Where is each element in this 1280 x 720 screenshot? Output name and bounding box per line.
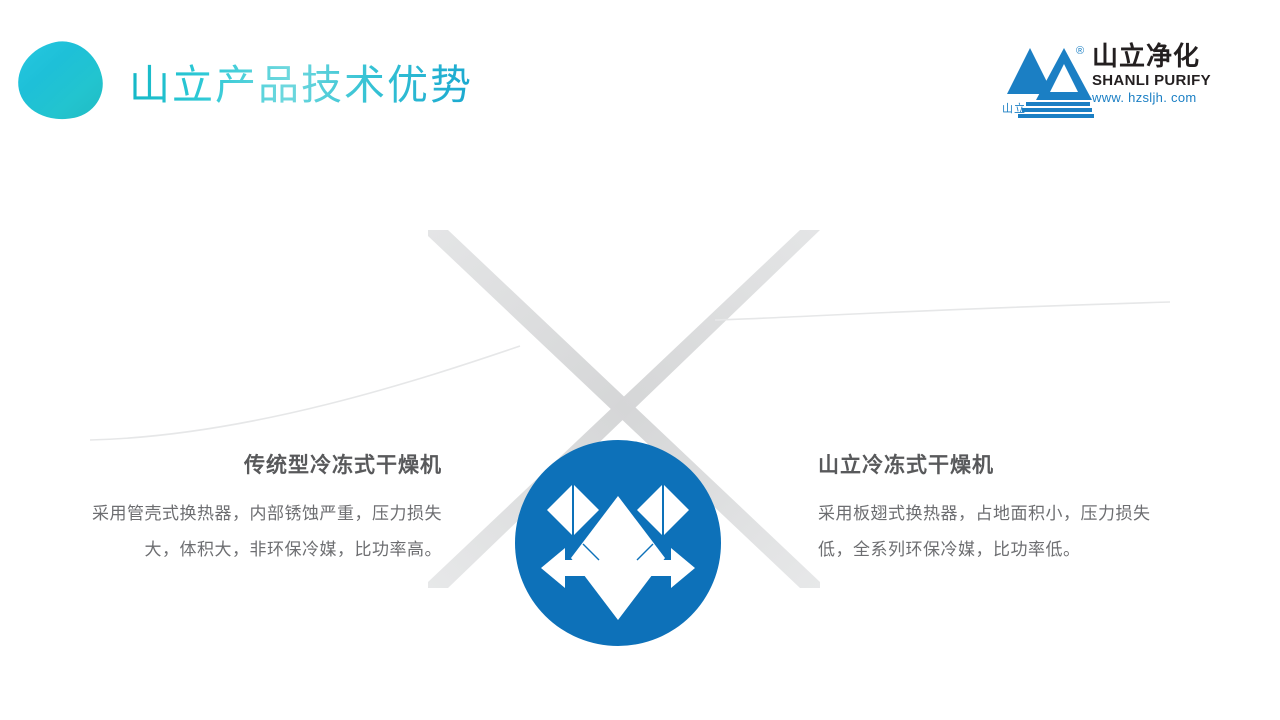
slide-canvas: 山立产品技术优势 ® 山立 山立净化 SHANLI PURIFY www. hz…: [0, 0, 1280, 720]
blob-decoration-icon: [11, 34, 109, 128]
logo-website-url: www. hzsljh. com: [1092, 90, 1224, 106]
column-traditional: 传统型冷冻式干燥机 采用管壳式换热器，内部锈蚀严重，压力损失大，体积大，非环保冷…: [92, 450, 442, 568]
logo-company-name-cn: 山立净化: [1092, 42, 1224, 72]
registered-trademark-icon: ®: [1076, 46, 1084, 57]
logo-company-name-en: SHANLI PURIFY: [1092, 72, 1224, 90]
page-title: 山立产品技术优势: [129, 58, 473, 112]
column-shanli-heading: 山立冷冻式干燥机: [818, 450, 1168, 480]
logo-text-block: 山立净化 SHANLI PURIFY www. hzsljh. com: [1092, 42, 1224, 106]
company-logo: ® 山立 山立净化 SHANLI PURIFY www. hzsljh. com: [1000, 38, 1222, 120]
column-shanli-body: 采用板翅式换热器，占地面积小，压力损失低，全系列环保冷媒，比功率低。: [818, 496, 1168, 568]
comparison-diagram: 传统型冷冻式干燥机 采用管壳式换热器，内部锈蚀严重，压力损失大，体积大，非环保冷…: [0, 150, 1280, 650]
center-circle: [515, 440, 721, 646]
column-traditional-heading: 传统型冷冻式干燥机: [92, 450, 442, 480]
logo-mark-caption: 山立: [1002, 100, 1026, 116]
column-shanli: 山立冷冻式干燥机 采用板翅式换热器，占地面积小，压力损失低，全系列环保冷媒，比功…: [818, 450, 1168, 568]
column-traditional-body: 采用管壳式换热器，内部锈蚀严重，压力损失大，体积大，非环保冷媒，比功率高。: [92, 496, 442, 568]
expand-diamonds-icon: [515, 440, 721, 646]
